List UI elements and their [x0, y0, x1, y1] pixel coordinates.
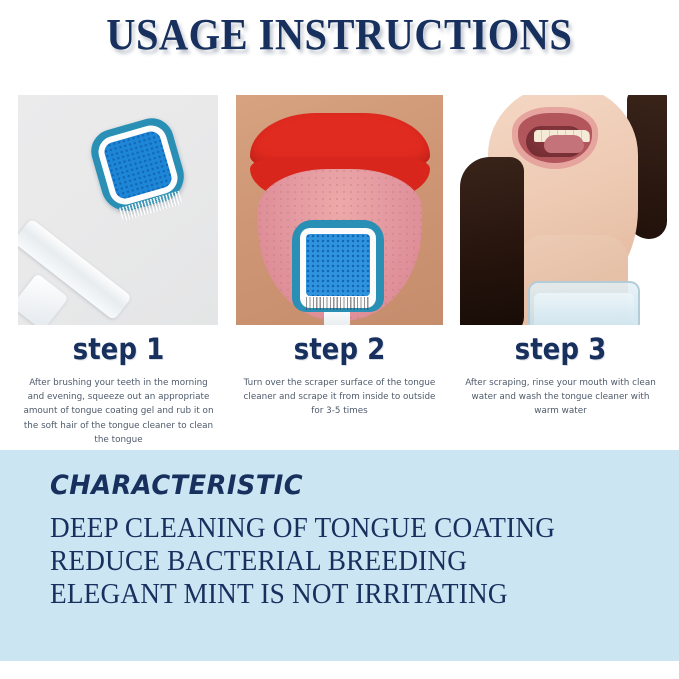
step-3-description: After scraping, rinse your mouth with cl…: [458, 376, 663, 419]
characteristic-item: REDUCE BACTERIAL BREEDING: [50, 545, 555, 578]
cleaner-head: [292, 220, 384, 312]
step-text-row: step 1 After brushing your teeth in the …: [8, 334, 671, 447]
page-title-container: USAGE INSTRUCTIONS: [0, 12, 679, 58]
water-glass: [528, 281, 640, 325]
silicone-bristles: [306, 234, 370, 296]
infographic-page: USAGE INSTRUCTIONS: [0, 0, 679, 679]
step-2-text: step 2 Turn over the scraper surface of …: [229, 334, 450, 447]
tongue: [544, 135, 584, 153]
step-2-description: Turn over the scraper surface of the ton…: [237, 376, 442, 419]
step-photo-row: [18, 95, 667, 325]
step-2-heading: step 2: [247, 334, 432, 366]
step-3-photo: [460, 95, 667, 325]
characteristic-list: DEEP CLEANING OF TONGUE COATING REDUCE B…: [50, 512, 587, 611]
step-2-photo: [236, 95, 443, 325]
step-1-text: step 1 After brushing your teeth in the …: [8, 334, 229, 447]
characteristic-title: CHARACTERISTIC: [50, 470, 303, 501]
mouth-cavity: [526, 126, 584, 157]
step-1-description: After brushing your teeth in the morning…: [16, 376, 221, 447]
water: [534, 293, 634, 325]
soft-hair-fringe: [306, 297, 370, 310]
page-title: USAGE INSTRUCTIONS: [106, 12, 572, 58]
step-3-text: step 3 After scraping, rinse your mouth …: [450, 334, 671, 447]
step-1-heading: step 1: [26, 334, 211, 366]
hair-left: [460, 157, 524, 325]
characteristic-panel: CHARACTERISTIC DEEP CLEANING OF TONGUE C…: [0, 450, 679, 661]
characteristic-item: ELEGANT MINT IS NOT IRRITATING: [50, 578, 555, 611]
step-3-heading: step 3: [468, 334, 653, 366]
characteristic-item: DEEP CLEANING OF TONGUE COATING: [50, 512, 555, 545]
step-1-photo: [18, 95, 218, 325]
